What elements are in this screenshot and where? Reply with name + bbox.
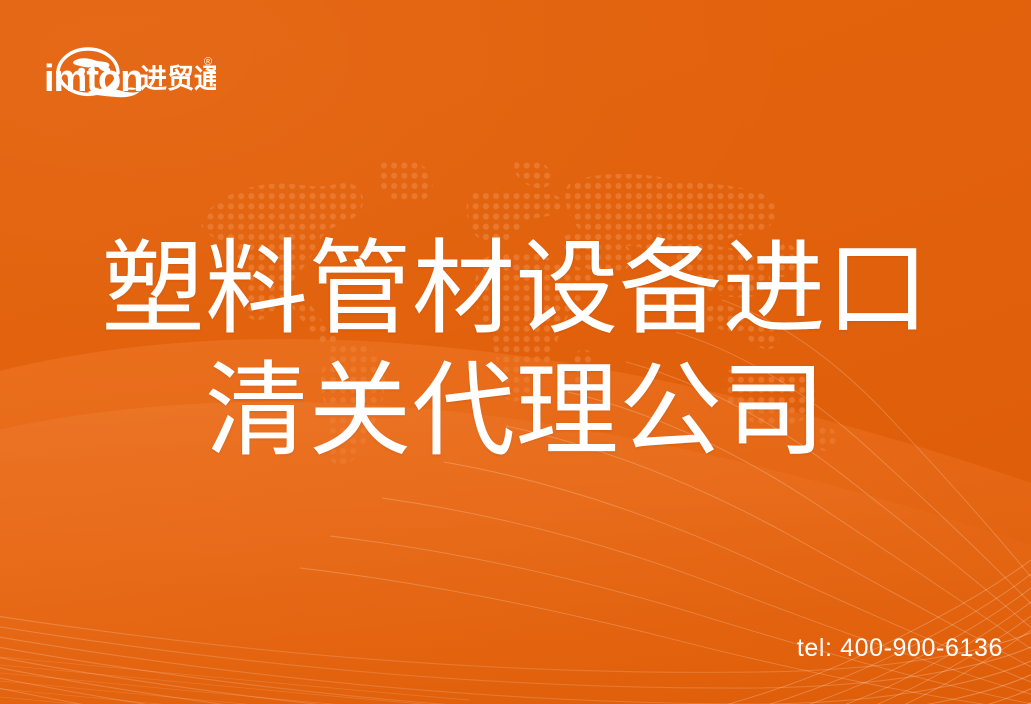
logo-chinese-name: 进贸通 bbox=[140, 64, 216, 94]
logo-wordmark: imton bbox=[44, 58, 142, 99]
dotted-world-map bbox=[185, 140, 845, 480]
contact-phone[interactable]: tel: 400-900-6136 bbox=[797, 634, 1003, 663]
headline-line-1: 塑料管材设备进口 bbox=[0, 228, 1031, 350]
registered-trademark-icon: ® bbox=[204, 56, 212, 68]
fan-line-texture bbox=[0, 0, 1031, 704]
promo-banner: imton 进贸通 ® 塑料管材设备进口 清关代理公司 tel: 400-900… bbox=[0, 0, 1031, 704]
page-title: 塑料管材设备进口 清关代理公司 bbox=[0, 228, 1031, 471]
headline-line-2: 清关代理公司 bbox=[0, 350, 1031, 472]
background-gradient bbox=[0, 0, 1031, 704]
imton-logo[interactable]: imton 进贸通 ® bbox=[44, 33, 216, 99]
